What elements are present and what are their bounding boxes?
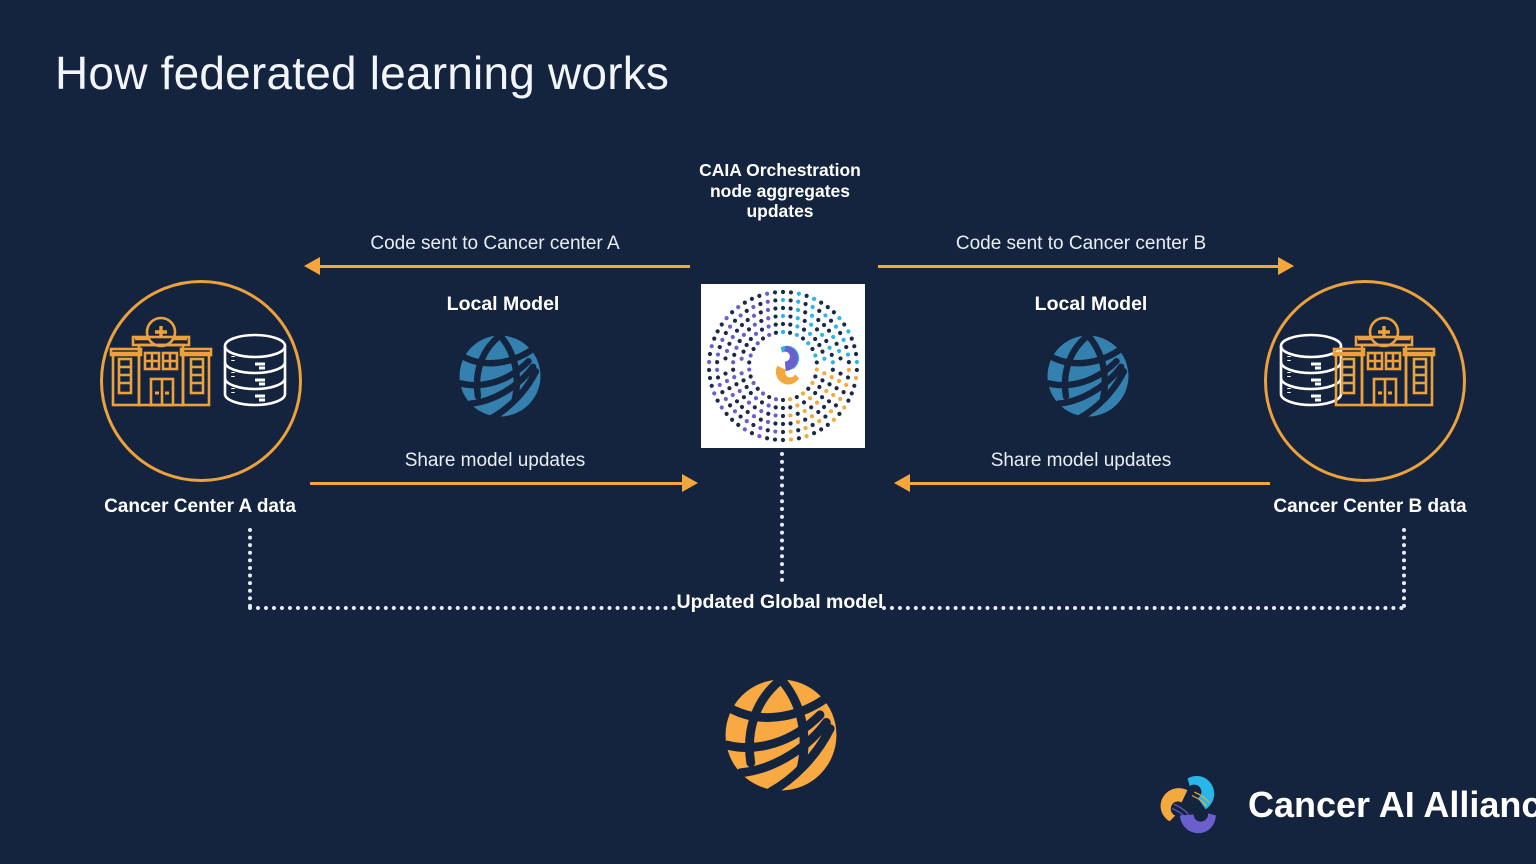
brand-name: Cancer AI Alliance — [1248, 784, 1536, 826]
cancer-center-a-label: Cancer Center A data — [60, 496, 340, 518]
orchestration-node-heading: CAIA Orchestration node aggregates updat… — [690, 160, 870, 222]
cancer-center-b-label: Cancer Center B data — [1230, 496, 1510, 518]
page-title: How federated learning works — [55, 46, 669, 100]
hospital-icon — [105, 315, 217, 407]
caia-orchestration-node-icon — [701, 284, 865, 448]
database-icon — [218, 332, 292, 416]
dotted-connector-center — [780, 452, 784, 582]
code-sent-a-label: Code sent to Cancer center A — [300, 233, 690, 255]
hospital-icon — [1328, 315, 1440, 407]
share-updates-a-label: Share model updates — [300, 450, 690, 472]
globe-icon — [716, 672, 846, 798]
slide-canvas: How federated learning works — [0, 0, 1536, 864]
brand-logo-block: Cancer AI Alliance — [1148, 762, 1536, 848]
updated-global-model-label: Updated Global model — [676, 591, 884, 614]
local-model-b-label: Local Model — [998, 293, 1184, 316]
local-model-a-label: Local Model — [410, 293, 596, 316]
globe-icon — [1040, 330, 1136, 422]
share-updates-b-label: Share model updates — [880, 450, 1282, 472]
globe-icon — [452, 330, 548, 422]
code-sent-b-label: Code sent to Cancer center B — [880, 233, 1282, 255]
cancer-ai-alliance-logo-icon — [1148, 762, 1234, 848]
